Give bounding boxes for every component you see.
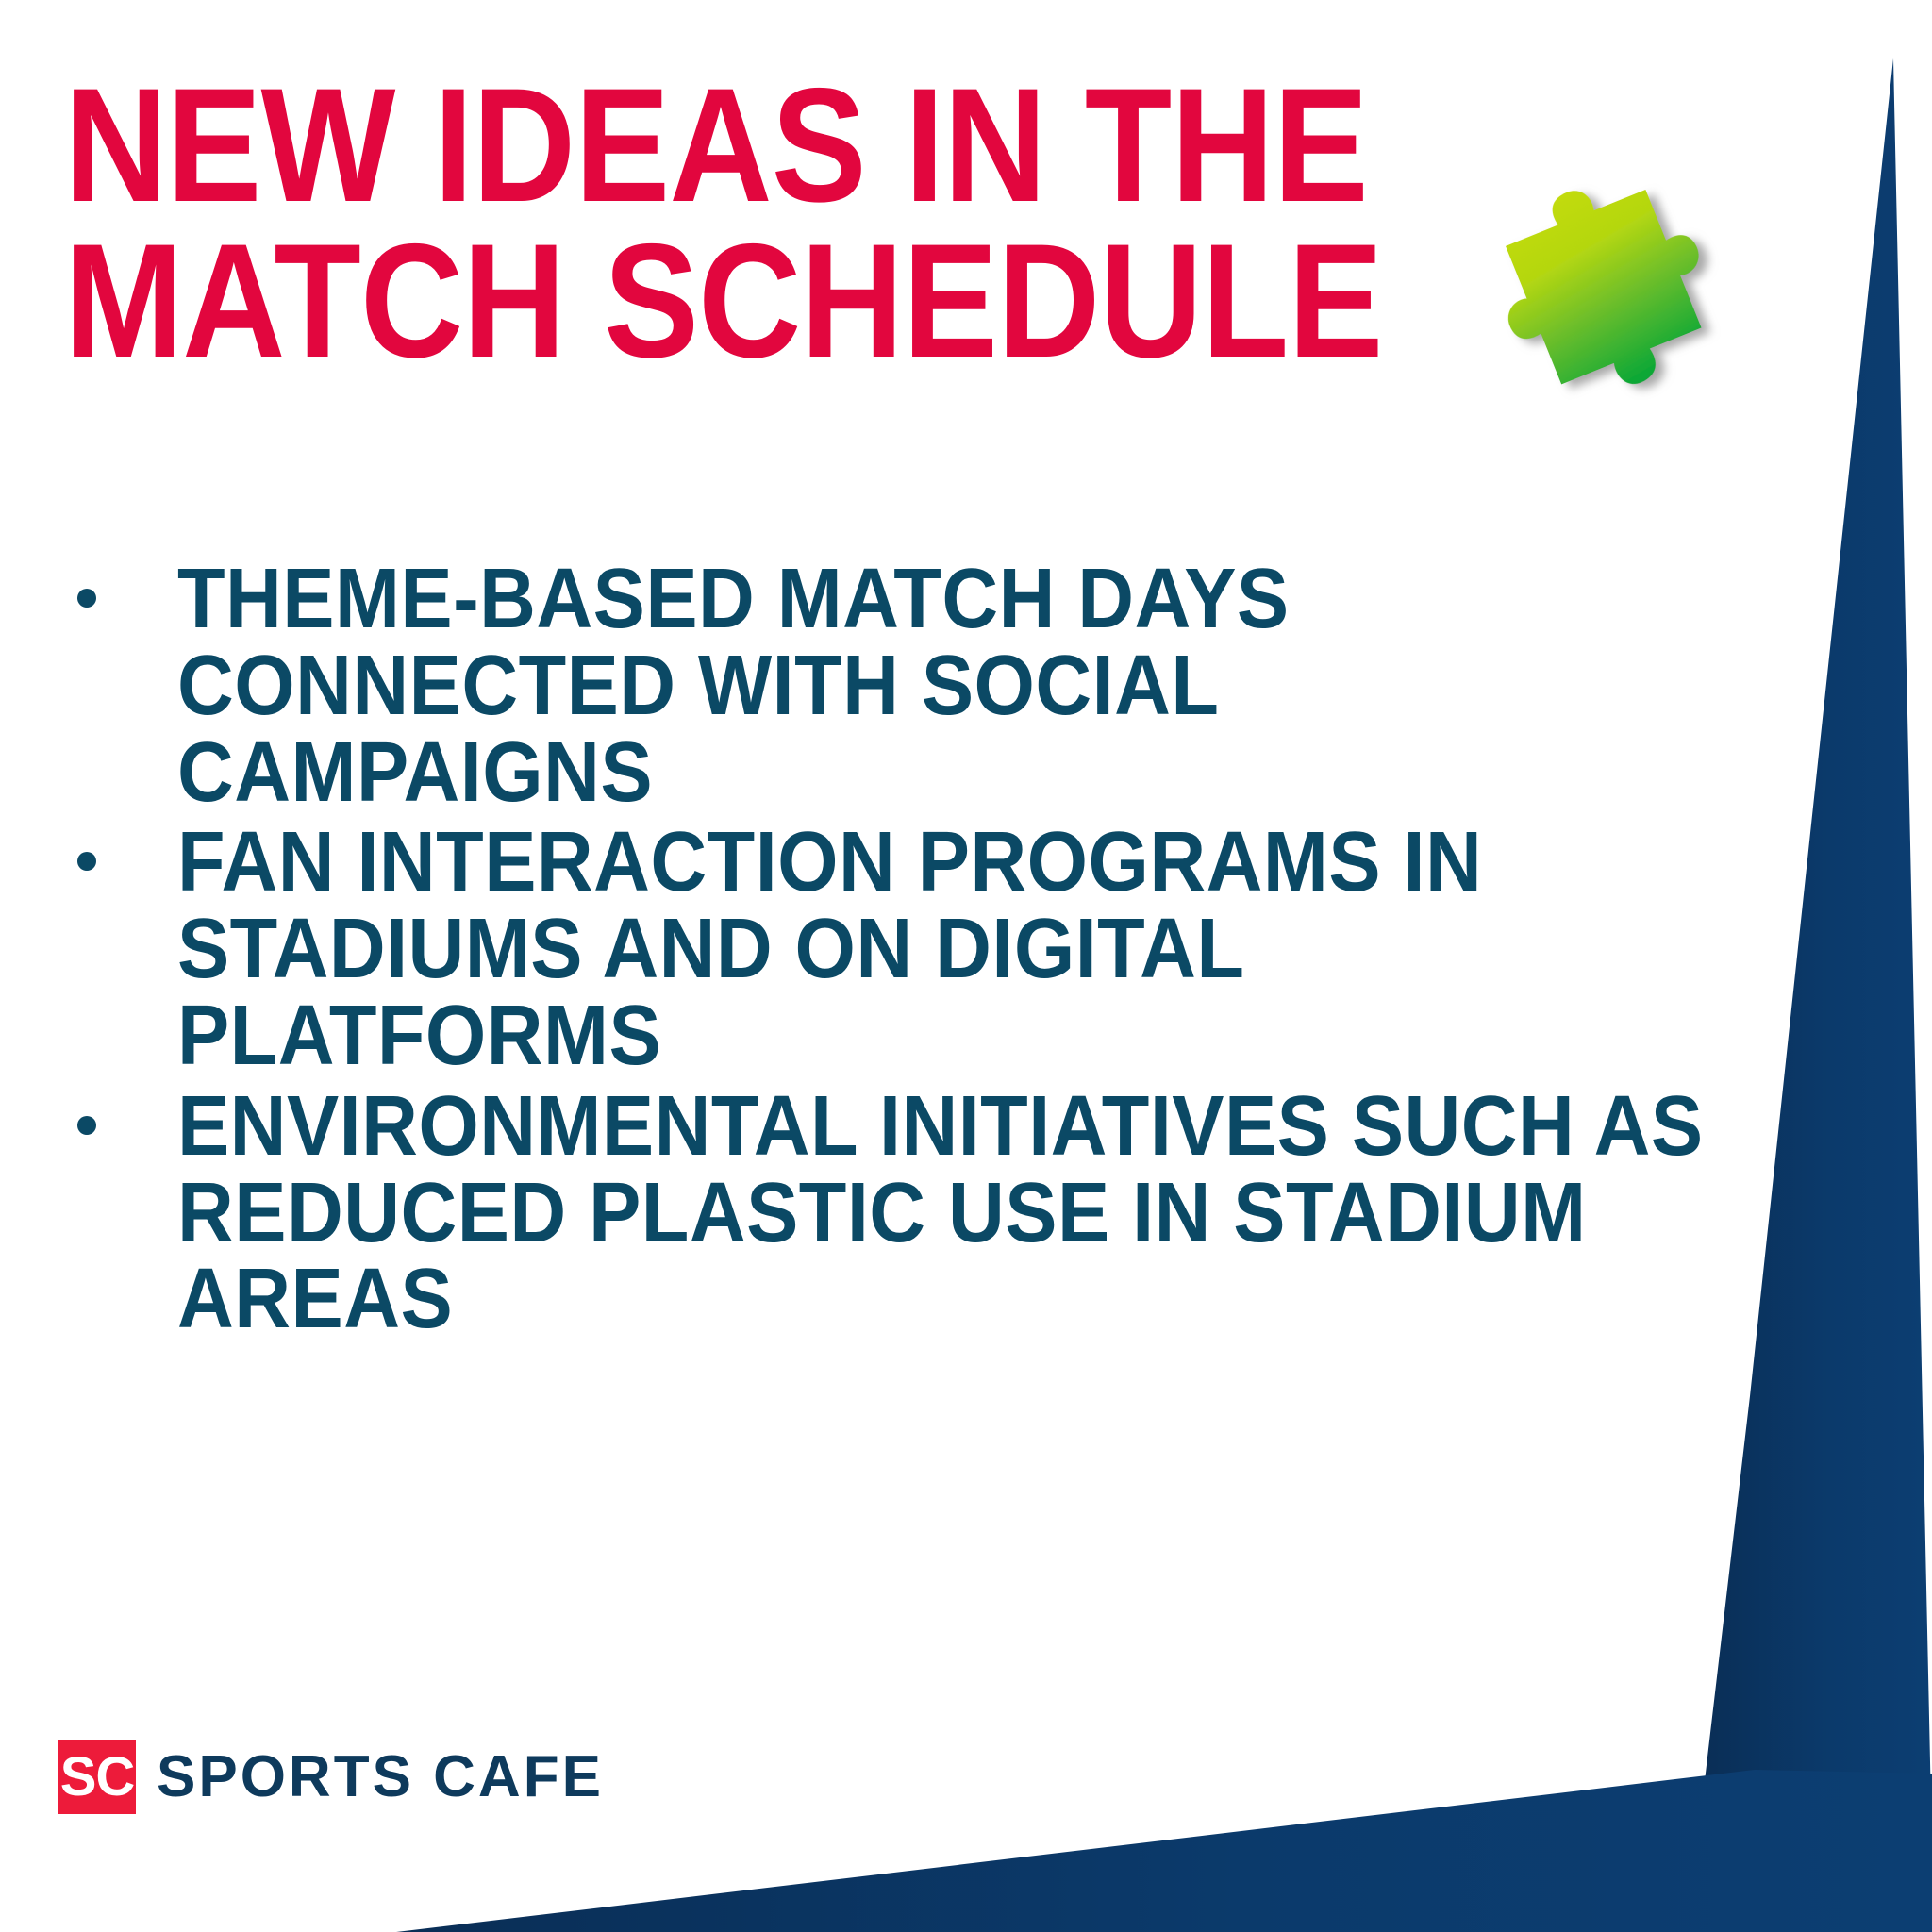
title-line-2: MATCH SCHEDULE xyxy=(64,224,1309,379)
brand-logo: SC SPORTS CAFE xyxy=(58,1740,604,1814)
bullet-text: THEME-BASED MATCH DAYS CONNECTED WITH SO… xyxy=(177,557,1707,816)
slide-canvas: NEW IDEAS IN THE MATCH SCHEDULE THEME-BA… xyxy=(0,0,1932,1932)
bottom-diagonal-band xyxy=(396,1770,1932,1932)
bullet-text: ENVIRONMENTAL INITIATIVES SUCH AS REDUCE… xyxy=(177,1084,1707,1343)
bullet-list: THEME-BASED MATCH DAYS CONNECTED WITH SO… xyxy=(57,557,1840,1347)
list-item: FAN INTERACTION PROGRAMS IN STADIUMS AND… xyxy=(57,820,1840,1079)
list-item: ENVIRONMENTAL INITIATIVES SUCH AS REDUCE… xyxy=(57,1084,1840,1343)
bullet-dot-icon xyxy=(77,1116,96,1135)
bullet-dot-icon xyxy=(77,589,96,608)
logo-wordmark: SPORTS CAFE xyxy=(157,1748,604,1807)
bullet-text: FAN INTERACTION PROGRAMS IN STADIUMS AND… xyxy=(177,820,1707,1079)
page-title: NEW IDEAS IN THE MATCH SCHEDULE xyxy=(64,68,1479,379)
bullet-dot-icon xyxy=(77,852,96,871)
puzzle-piece-icon xyxy=(1453,160,1736,443)
logo-mark-sc: SC xyxy=(58,1740,136,1814)
list-item: THEME-BASED MATCH DAYS CONNECTED WITH SO… xyxy=(57,557,1840,816)
title-line-1: NEW IDEAS IN THE xyxy=(64,68,1309,224)
